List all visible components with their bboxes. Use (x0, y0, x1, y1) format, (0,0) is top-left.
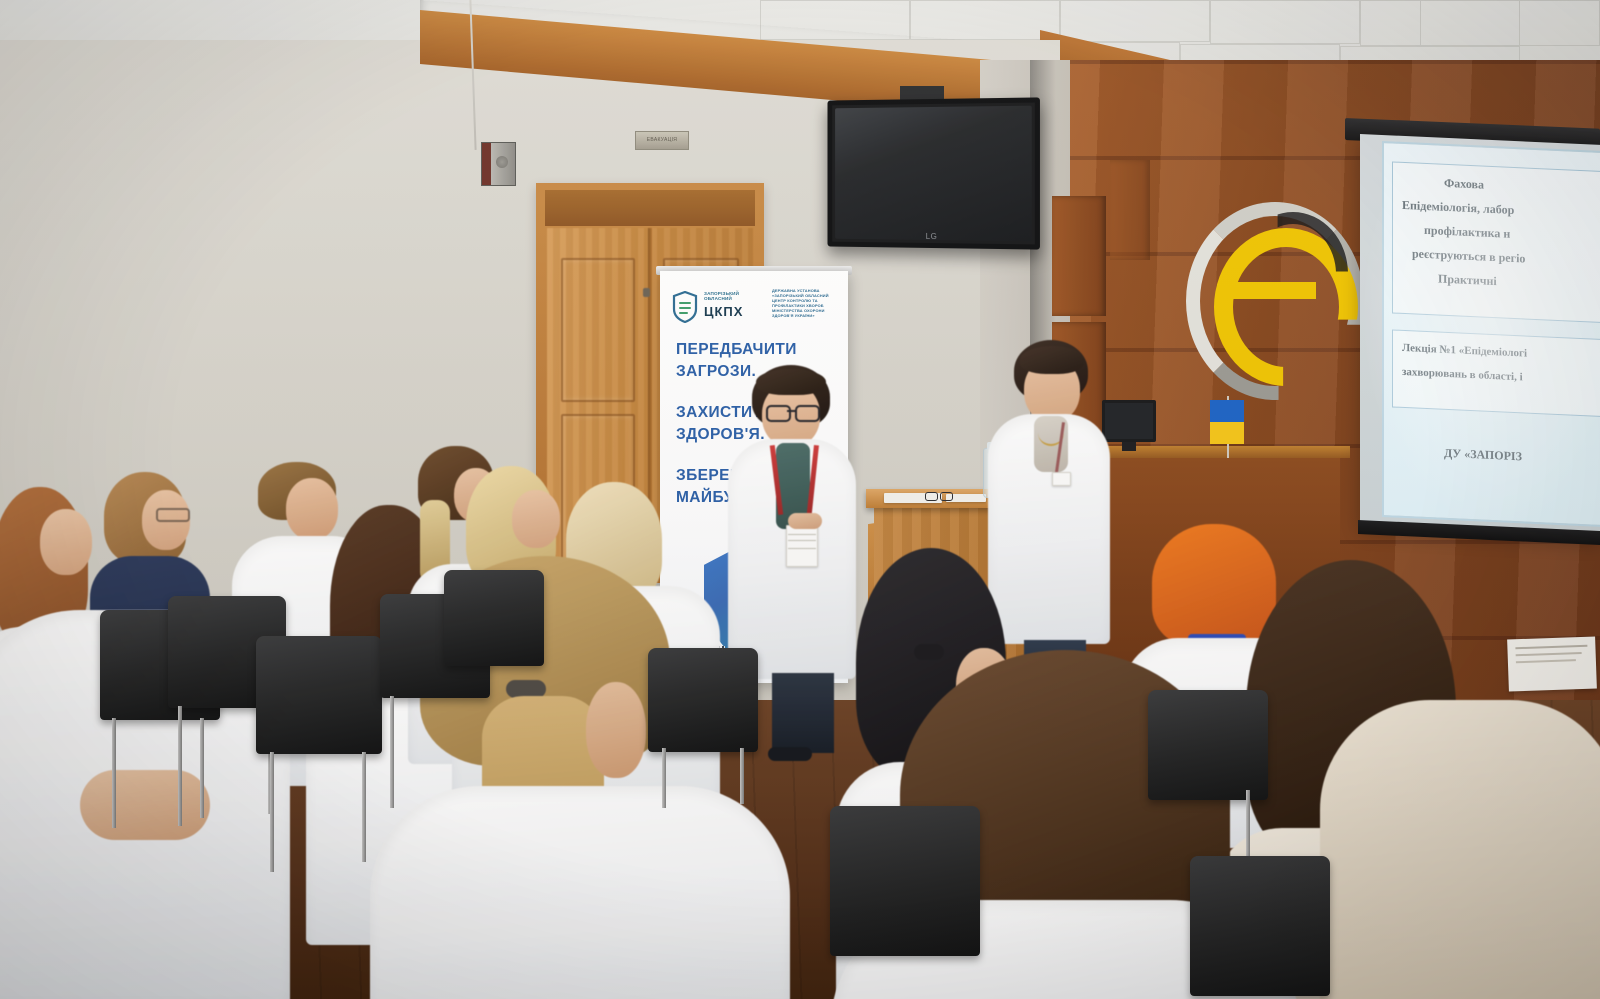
banner-slogan-line: ПЕРЕДБАЧИТИ (676, 341, 797, 359)
door-handle[interactable] (643, 288, 650, 297)
slide-title-box (1392, 161, 1600, 326)
chair-back (830, 806, 980, 956)
eyeglasses-lens (925, 492, 938, 501)
chair-back (1190, 856, 1330, 996)
wall-speaker (481, 142, 516, 186)
tv-brand-label: LG (926, 232, 938, 241)
wall-mounted-tv[interactable]: LG (828, 97, 1040, 249)
audience-face (286, 478, 338, 540)
chair[interactable] (830, 806, 980, 956)
banner-org-text: ДЕРЖАВНА УСТАНОВА «ЗАПОРІЗЬКИЙ ОБЛАСНИЙ … (772, 289, 838, 318)
slide-title-line: Практичні (1438, 272, 1497, 290)
slide-footer-line: ДУ «ЗАПОРІЗ (1444, 446, 1522, 465)
moderator-eyeglasses-icon (766, 405, 818, 419)
projected-slide: Фахова Епідеміологія, лабор профілактика… (1382, 141, 1600, 529)
foreground-lab-coat (370, 786, 790, 999)
audience-hair-tie (914, 644, 944, 660)
door-transom (545, 190, 755, 226)
chair-back (444, 570, 544, 666)
banner-slogan-line: ЗДОРОВ'Я. (676, 426, 765, 444)
monitor-stand (1122, 442, 1136, 451)
moderator-trousers (772, 673, 834, 753)
eyeglasses-on-podium[interactable] (925, 492, 953, 500)
chair-leg (1246, 790, 1250, 860)
chair-leg (740, 748, 744, 804)
chair[interactable] (256, 636, 382, 754)
conference-room-photo: ЕВАКУАЦІЯ LG ЗАПОРІЗЬКИЙ ОБЛАСНИЙ ЦКПХ Д… (0, 0, 1600, 999)
foreground-top (1320, 700, 1600, 999)
presenter-id-badge (1052, 472, 1071, 486)
foreground-arm (80, 770, 210, 840)
audience-face (40, 509, 92, 575)
banner-logo-subtitle: ЗАПОРІЗЬКИЙ ОБЛАСНИЙ (704, 291, 764, 302)
chair-leg (200, 718, 204, 818)
chair[interactable] (1190, 856, 1330, 996)
banner-slogan-line: ЗАГРОЗИ. (676, 363, 756, 381)
chair-leg (362, 752, 366, 862)
wall-plaque-label: ЕВАКУАЦІЯ (636, 132, 688, 149)
audience-eyeglasses-icon (156, 508, 190, 522)
moderator-shoe (768, 747, 812, 761)
desktop-monitor[interactable] (1102, 400, 1156, 442)
projection-screen: Фахова Епідеміологія, лабор профілактика… (1360, 134, 1600, 537)
shield-logo-icon (672, 291, 698, 323)
chair-leg (112, 718, 116, 828)
audience-face (512, 490, 560, 548)
flag-blue-stripe (1210, 400, 1244, 422)
chair-leg (270, 752, 274, 872)
flag-yellow-stripe (1210, 422, 1244, 444)
chair[interactable] (1148, 690, 1268, 800)
chair-leg (662, 748, 666, 808)
chair-leg (390, 696, 394, 808)
moderator-fringe (756, 369, 826, 395)
slide-title-line: Фахова (1444, 176, 1484, 193)
audience-hair (1152, 524, 1276, 646)
wood-slat (1110, 160, 1150, 260)
eyeglasses-lens (940, 492, 953, 501)
wall-plaque: ЕВАКУАЦІЯ (635, 131, 689, 150)
badge-text-line (788, 534, 816, 535)
chair[interactable] (648, 648, 758, 752)
chair-back (1148, 690, 1268, 800)
banner-logo-name: ЦКПХ (704, 304, 743, 319)
chair[interactable] (444, 570, 544, 666)
chair-back (648, 648, 758, 752)
wall-emblem-e-icon (1186, 198, 1346, 388)
emblem-yellow-bar (1224, 282, 1316, 299)
badge-text-line (788, 540, 816, 541)
presenter-fringe (1020, 346, 1084, 374)
door-panel (561, 258, 635, 402)
moderator-id-badge (786, 525, 818, 567)
badge-text-line (788, 548, 816, 549)
documents-on-desk[interactable] (1507, 636, 1597, 691)
monitor-screen (1105, 403, 1153, 439)
chair-leg (178, 706, 182, 826)
moderator-hands (788, 513, 822, 529)
tv-screen (835, 106, 1032, 242)
foreground-neck (586, 682, 646, 778)
speaker-cone-icon (496, 156, 508, 168)
chair-back (256, 636, 382, 754)
wood-slat (1052, 196, 1106, 316)
ukraine-flag-icon (1210, 400, 1244, 444)
